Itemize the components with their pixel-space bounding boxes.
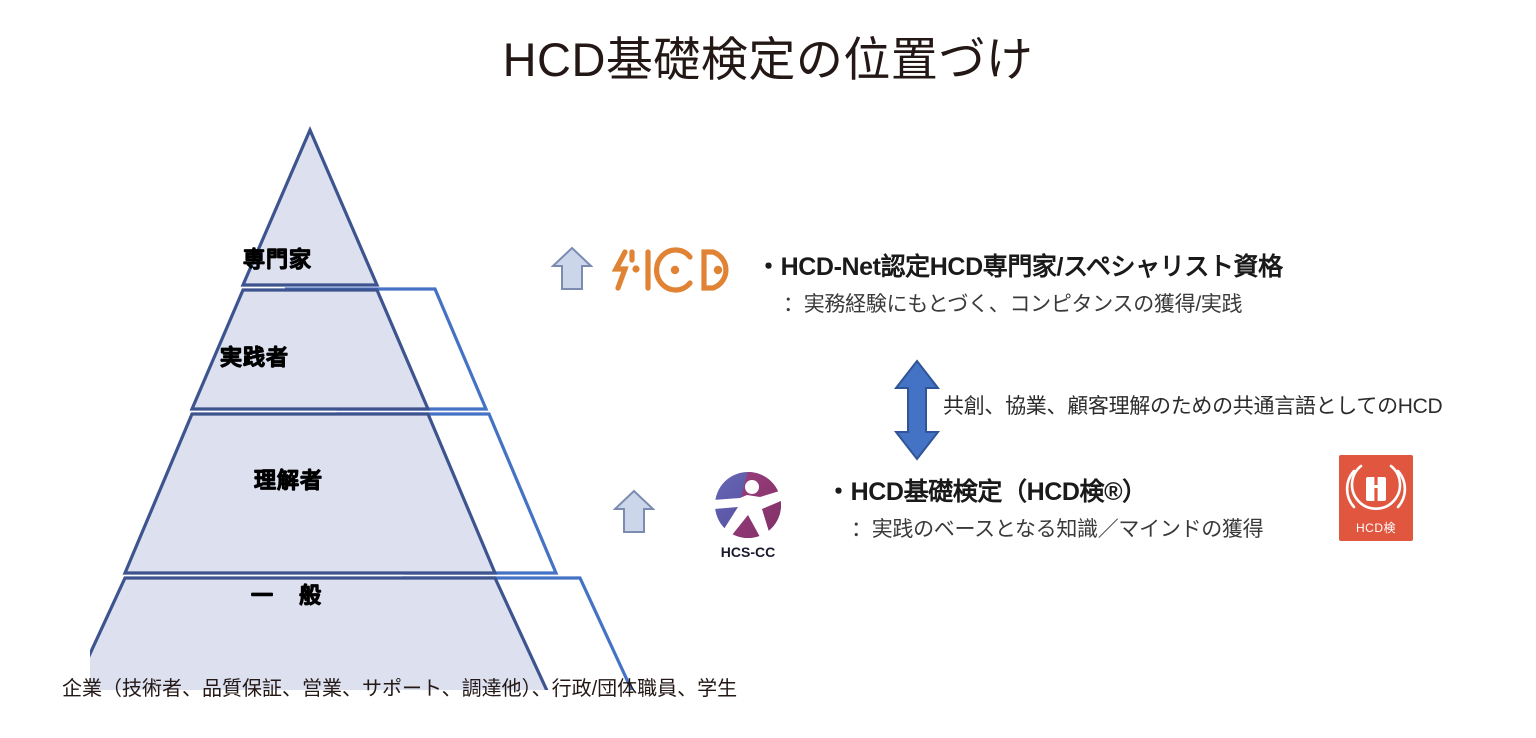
specialist-heading: ・HCD-Net認定HCD専門家/スペシャリスト資格 xyxy=(756,247,1283,283)
page-title: HCD基礎検定の位置づけ xyxy=(0,34,1536,86)
middle-common-language-text: 共創、協業、顧客理解のための共通言語としてのHCD xyxy=(943,390,1442,420)
pyramid-diagram xyxy=(90,110,730,690)
arrow-up-icon xyxy=(551,246,593,292)
basic-exam-subtext: ：実践のベースとなる知識／マインドの獲得 xyxy=(851,513,1263,543)
pyramid-tier-label-general: 一 般 xyxy=(251,578,331,610)
pyramid-tier-label-practitioner: 実践者 xyxy=(220,340,289,372)
hcs-cc-logo-text: HCS-CC xyxy=(721,544,775,560)
hcs-cc-logo-icon: HCS-CC xyxy=(700,465,796,561)
pyramid-tier-label-informed: 理解者 xyxy=(254,463,323,495)
basic-exam-heading: ・HCD基礎検定（HCD検®） xyxy=(826,472,1147,508)
hcd-ken-badge-icon: HCD検 xyxy=(1339,455,1413,541)
pyramid-base-caption: 企業（技術者、品質保証、営業、サポート、調達他）、行政/団体職員、学生 xyxy=(62,672,737,701)
slide-canvas: HCD基礎検定の位置づけ 専門家 実践者 理解者 一 般 企業（技術者、品質保証… xyxy=(0,0,1536,738)
arrow-up-icon xyxy=(613,489,655,535)
arrow-up-down-icon xyxy=(893,358,941,462)
pyramid-tier-label-expert: 専門家 xyxy=(243,242,312,274)
hcd-ken-badge-label: HCD検 xyxy=(1339,519,1413,536)
specialist-subtext: ：実務経験にもとづく、コンピタンスの獲得/実践 xyxy=(783,288,1242,318)
hcd-net-logo-icon xyxy=(612,242,738,298)
